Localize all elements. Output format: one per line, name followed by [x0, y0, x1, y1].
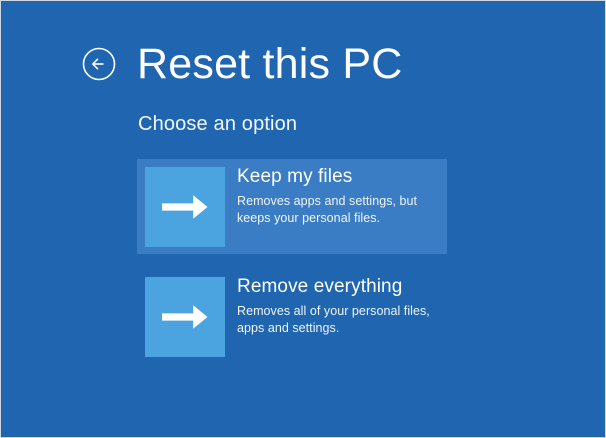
arrow-right-icon — [160, 298, 210, 336]
option-keep-my-files[interactable]: Keep my files Removes apps and settings,… — [137, 159, 447, 254]
option-icon-box — [145, 277, 225, 357]
arrow-right-icon — [160, 188, 210, 226]
options-list: Keep my files Removes apps and settings,… — [1, 1, 606, 438]
option-title: Remove everything — [237, 275, 445, 299]
option-description: Removes all of your personal files, apps… — [237, 303, 445, 337]
option-text: Remove everything Removes all of your pe… — [237, 275, 445, 337]
option-remove-everything[interactable]: Remove everything Removes all of your pe… — [137, 269, 447, 364]
option-title: Keep my files — [237, 165, 445, 189]
option-text: Keep my files Removes apps and settings,… — [237, 165, 445, 227]
option-description: Removes apps and settings, but keeps you… — [237, 193, 445, 227]
reset-this-pc-screen: Reset this PC Choose an option Keep my f… — [0, 0, 606, 438]
option-icon-box — [145, 167, 225, 247]
